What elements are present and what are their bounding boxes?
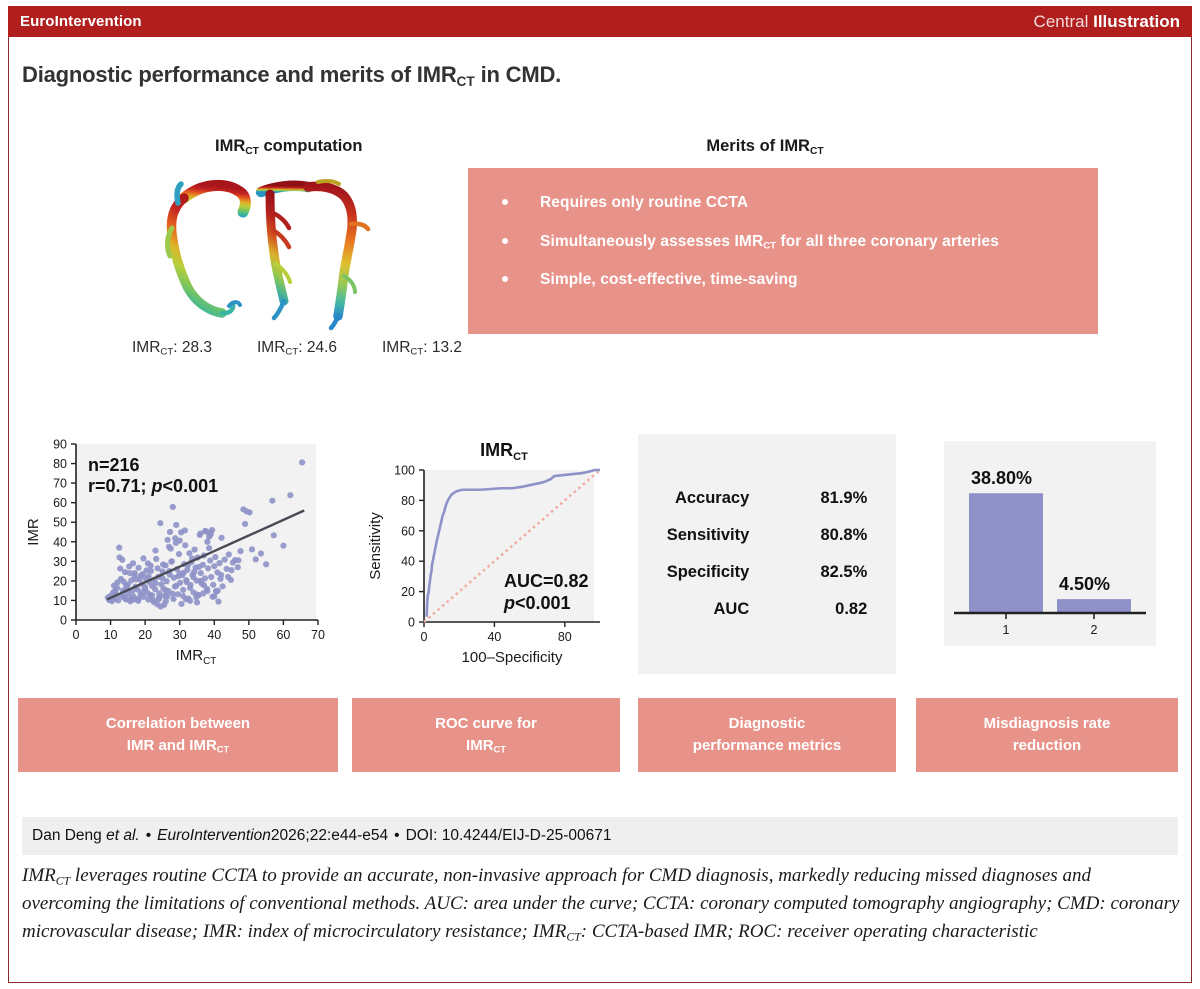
svg-text:0: 0 — [60, 614, 67, 628]
svg-text:90: 90 — [53, 438, 67, 452]
metric-value: 81.9% — [795, 480, 867, 517]
ribbon-metrics: Diagnostic performance metrics — [638, 698, 896, 772]
metric-value: 0.82 — [795, 591, 867, 628]
svg-text:0: 0 — [408, 616, 415, 630]
roc-y-ticks: 020406080100 — [394, 464, 424, 630]
svg-text:70: 70 — [311, 628, 325, 642]
imrct-value-labels: IMRCT: 28.3 IMRCT: 24.6 IMRCT: 13.2 — [132, 339, 462, 358]
merits-heading-main: Merits of IMR — [706, 137, 810, 155]
citation-bar: Dan Deng et al.•EuroIntervention 2026;22… — [22, 817, 1178, 855]
citation-bullet-1: • — [146, 827, 151, 845]
legend-lead-sub: CT — [56, 874, 70, 887]
citation-etal: et al. — [106, 827, 140, 845]
svg-text:38.80%: 38.80% — [971, 468, 1032, 488]
svg-text:10: 10 — [104, 628, 118, 642]
scatter-chart-imr-correlation: 0102030405060708090 010203040506070 n=21… — [18, 434, 338, 682]
page-title-part1: Diagnostic performance and merits of IMR — [22, 62, 457, 87]
central-illustration-page: EuroIntervention Central Illustration Di… — [0, 0, 1200, 989]
vessel-3 — [308, 181, 368, 328]
svg-text:50: 50 — [242, 628, 256, 642]
svg-text:20: 20 — [53, 574, 67, 588]
journal-brand: EuroIntervention — [20, 13, 142, 30]
merit-item-3-text: Simple, cost-effective, time-saving — [540, 271, 798, 288]
figure-legend: IMRCT leverages routine CCTA to provide … — [22, 862, 1180, 946]
citation-issue: 2026;22:e44-e54 — [271, 827, 388, 845]
svg-text:10: 10 — [53, 594, 67, 608]
imrct-value-2: IMRCT: 24.6 — [257, 339, 337, 358]
roc-x-axis-label: 100–Specificity — [462, 649, 563, 666]
page-title-subscript: CT — [457, 74, 475, 89]
table-row: Accuracy 81.9% — [667, 480, 868, 517]
svg-text:0: 0 — [421, 630, 428, 644]
svg-text:60: 60 — [401, 524, 415, 538]
svg-text:40: 40 — [401, 555, 415, 569]
scatter-annotation-n: n=216 — [88, 455, 140, 475]
svg-text:60: 60 — [276, 628, 290, 642]
merit-item-2-text: Simultaneously assesses IMR — [540, 233, 763, 250]
legend-tail-sub: CT — [566, 931, 580, 944]
imrct-value-3: IMRCT: 13.2 — [382, 339, 462, 358]
merits-box: Requires only routine CCTA Simultaneousl… — [468, 168, 1098, 334]
bar-chart-misdiagnosis: 38.80%4.50% 12 — [944, 441, 1156, 646]
metric-label: Specificity — [667, 554, 796, 591]
metric-label: Accuracy — [667, 480, 796, 517]
svg-text:0: 0 — [73, 628, 80, 642]
imrct-value-1: IMRCT: 28.3 — [132, 339, 212, 358]
vessel-1 — [168, 184, 246, 313]
merit-item-2: Simultaneously assesses IMRCT for all th… — [490, 233, 1098, 252]
metric-value: 82.5% — [795, 554, 867, 591]
roc-x-ticks: 04080 — [421, 622, 572, 644]
vessel-2 — [261, 186, 308, 318]
legend-tail: : CCTA-based IMR; ROC: receiver operatin… — [581, 921, 1038, 942]
svg-text:40: 40 — [53, 535, 67, 549]
svg-text:100: 100 — [394, 464, 415, 478]
metric-label: Sensitivity — [667, 517, 796, 554]
merits-list: Requires only routine CCTA Simultaneousl… — [490, 194, 1098, 290]
bullet-icon — [502, 238, 508, 244]
ribbon-correlation-text: Correlation between IMR and IMRCT — [106, 713, 250, 757]
svg-text:80: 80 — [53, 457, 67, 471]
table-row: Sensitivity 80.8% — [667, 517, 868, 554]
citation-doi: DOI: 10.4244/EIJ-D-25-00671 — [406, 827, 612, 845]
scatter-x-axis-label: IMRCT — [176, 647, 217, 667]
svg-text:60: 60 — [53, 496, 67, 510]
merits-heading: Merits of IMRCT — [0, 137, 1200, 157]
journal-header-bar: EuroIntervention Central Illustration — [8, 6, 1192, 37]
ribbon-misdiagnosis-text: Misdiagnosis rate reduction — [984, 713, 1111, 757]
svg-text:2: 2 — [1091, 623, 1098, 637]
merit-item-1-text: Requires only routine CCTA — [540, 194, 748, 211]
roc-chart-title: IMRCT — [480, 440, 528, 463]
svg-text:20: 20 — [138, 628, 152, 642]
scatter-y-axis-label: IMR — [25, 518, 42, 546]
svg-text:4.50%: 4.50% — [1059, 574, 1110, 594]
scatter-y-ticks: 0102030405060708090 — [53, 438, 76, 628]
roc-y-axis-label: Sensitivity — [367, 512, 384, 580]
ribbon-roc: ROC curve for IMRCT — [352, 698, 620, 772]
coronary-tree-illustration — [150, 168, 430, 331]
svg-text:40: 40 — [487, 630, 501, 644]
table-row: AUC 0.82 — [667, 591, 868, 628]
diagnostic-metrics-table: Accuracy 81.9% Sensitivity 80.8% Specifi… — [667, 480, 868, 628]
citation-bullet-2: • — [394, 827, 399, 845]
page-title: Diagnostic performance and merits of IMR… — [22, 62, 561, 89]
roc-annotation-auc: AUC=0.82 — [504, 571, 589, 591]
svg-text:50: 50 — [53, 516, 67, 530]
table-row: Specificity 82.5% — [667, 554, 868, 591]
legend-lead-main: IMR — [22, 865, 56, 886]
citation-authors: Dan Deng — [32, 827, 102, 845]
roc-chart-imrct: IMRCT 020406080100 04080 AUC=0.82 p<0.00… — [352, 434, 624, 682]
svg-text:80: 80 — [558, 630, 572, 644]
bullet-icon — [502, 199, 508, 205]
diagnostic-metrics-panel: Accuracy 81.9% Sensitivity 80.8% Specifi… — [638, 434, 896, 674]
scatter-annotation-r: r=0.71; p<0.001 — [88, 476, 218, 496]
svg-text:1: 1 — [1003, 623, 1010, 637]
metric-value: 80.8% — [795, 517, 867, 554]
merit-item-3: Simple, cost-effective, time-saving — [490, 271, 1098, 290]
roc-annotation-p: p<0.001 — [503, 593, 571, 613]
svg-text:70: 70 — [53, 477, 67, 491]
svg-text:30: 30 — [53, 555, 67, 569]
svg-text:30: 30 — [173, 628, 187, 642]
svg-text:20: 20 — [401, 585, 415, 599]
page-title-part2: in CMD. — [475, 62, 561, 87]
ribbon-correlation: Correlation between IMR and IMRCT — [18, 698, 338, 772]
bullet-icon — [502, 276, 508, 282]
metric-label: AUC — [667, 591, 796, 628]
merits-heading-sub: CT — [810, 146, 824, 157]
central-illustration-label: Central Illustration — [1034, 12, 1180, 32]
central-illustration-label-light: Central — [1034, 12, 1089, 31]
misdiagnosis-bar-panel: 38.80%4.50% 12 — [944, 441, 1156, 646]
merit-item-1: Requires only routine CCTA — [490, 194, 1098, 213]
scatter-x-ticks: 010203040506070 — [73, 620, 325, 642]
ribbon-roc-text: ROC curve for IMRCT — [435, 713, 537, 757]
ribbon-misdiagnosis: Misdiagnosis rate reduction — [916, 698, 1178, 772]
svg-text:40: 40 — [207, 628, 221, 642]
svg-text:80: 80 — [401, 494, 415, 508]
bar-series: 38.80%4.50% — [969, 468, 1131, 613]
bar-x-ticks: 12 — [1003, 613, 1098, 637]
ribbon-metrics-text: Diagnostic performance metrics — [693, 713, 841, 757]
central-illustration-label-bold: Illustration — [1093, 12, 1180, 31]
citation-journal: EuroIntervention — [157, 827, 271, 845]
